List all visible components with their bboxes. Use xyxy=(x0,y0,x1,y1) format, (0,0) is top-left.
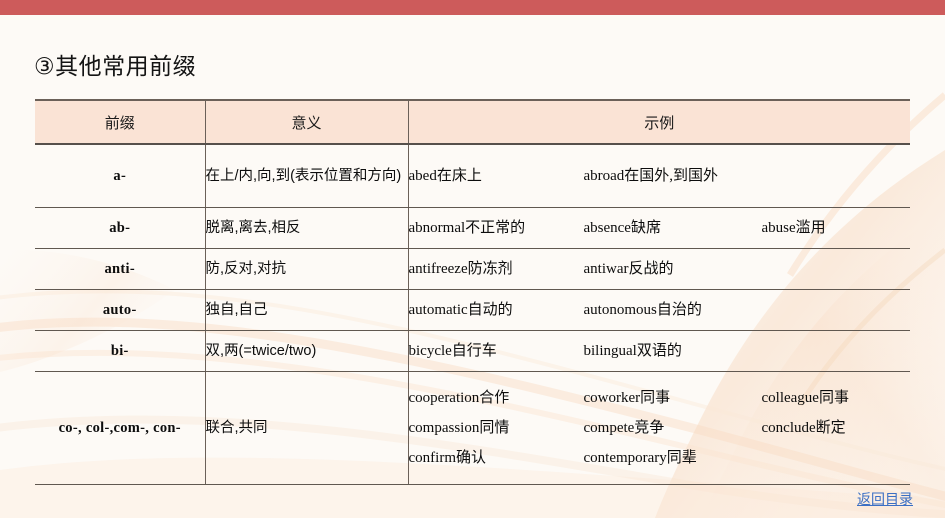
example-item: abnormal不正常的 xyxy=(409,213,584,243)
meaning-cell: 防,反对,对抗 xyxy=(205,249,408,290)
table-body: a- 在上/内,向,到(表示位置和方向) abed在床上 abroad在国外,到… xyxy=(35,144,910,485)
prefix-cell: a- xyxy=(35,144,205,208)
column-header-examples: 示例 xyxy=(408,100,910,144)
meaning-cell: 脱离,离去,相反 xyxy=(205,208,408,249)
example-item: abed在床上 xyxy=(409,161,584,191)
slide-content: ③其他常用前缀 前缀 意义 示例 a- 在上/内,向,到(表示位置和方向) ab… xyxy=(0,0,945,518)
examples-cell: automatic自动的 autonomous自治的 xyxy=(408,290,910,331)
table-row: anti- 防,反对,对抗 antifreeze防冻剂 antiwar反战的 xyxy=(35,249,910,290)
prefix-cell: anti- xyxy=(35,249,205,290)
example-item: antifreeze防冻剂 xyxy=(409,254,584,284)
return-to-contents-link[interactable]: 返回目录 xyxy=(857,489,913,509)
table-row: bi- 双,两(=twice/two) bicycle自行车 bilingual… xyxy=(35,331,910,372)
example-line: automatic自动的 autonomous自治的 xyxy=(409,295,911,325)
table-row: auto- 独自,自己 automatic自动的 autonomous自治的 xyxy=(35,290,910,331)
table-row: co-, col-,com-, con- 联合,共同 cooperation合作… xyxy=(35,372,910,485)
table-header: 前缀 意义 示例 xyxy=(35,100,910,144)
example-item: contemporary同辈 xyxy=(584,443,762,473)
examples-cell: cooperation合作 coworker同事 colleague同事 com… xyxy=(408,372,910,485)
example-item: compete竞争 xyxy=(584,413,762,443)
example-line: abed在床上 abroad在国外,到国外 xyxy=(409,161,911,191)
examples-cell: bicycle自行车 bilingual双语的 xyxy=(408,331,910,372)
prefix-cell: ab- xyxy=(35,208,205,249)
example-item: conclude断定 xyxy=(762,413,846,443)
example-line: confirm确认 contemporary同辈 xyxy=(409,443,911,473)
example-line: abnormal不正常的 absence缺席 abuse滥用 xyxy=(409,213,911,243)
examples-cell: abnormal不正常的 absence缺席 abuse滥用 xyxy=(408,208,910,249)
table-header-row: 前缀 意义 示例 xyxy=(35,100,910,144)
prefix-cell: co-, col-,com-, con- xyxy=(35,372,205,485)
prefix-cell: bi- xyxy=(35,331,205,372)
example-item: compassion同情 xyxy=(409,413,584,443)
example-item: automatic自动的 xyxy=(409,295,584,325)
example-item: absence缺席 xyxy=(584,213,762,243)
example-item: cooperation合作 xyxy=(409,383,584,413)
column-header-meaning: 意义 xyxy=(205,100,408,144)
meaning-cell: 双,两(=twice/two) xyxy=(205,331,408,372)
example-line: antifreeze防冻剂 antiwar反战的 xyxy=(409,254,911,284)
example-line: bicycle自行车 bilingual双语的 xyxy=(409,336,911,366)
table-row: a- 在上/内,向,到(表示位置和方向) abed在床上 abroad在国外,到… xyxy=(35,144,910,208)
examples-cell: abed在床上 abroad在国外,到国外 xyxy=(408,144,910,208)
prefix-table: 前缀 意义 示例 a- 在上/内,向,到(表示位置和方向) abed在床上 ab… xyxy=(35,99,910,485)
example-item: antiwar反战的 xyxy=(584,254,762,284)
example-item: abuse滥用 xyxy=(762,213,826,243)
example-item: confirm确认 xyxy=(409,443,584,473)
example-item: autonomous自治的 xyxy=(584,295,762,325)
example-line: compassion同情 compete竞争 conclude断定 xyxy=(409,413,911,443)
example-item: bicycle自行车 xyxy=(409,336,584,366)
meaning-cell: 在上/内,向,到(表示位置和方向) xyxy=(205,144,408,208)
column-header-prefix: 前缀 xyxy=(35,100,205,144)
example-line: cooperation合作 coworker同事 colleague同事 xyxy=(409,383,911,413)
example-item: coworker同事 xyxy=(584,383,762,413)
example-item: bilingual双语的 xyxy=(584,336,762,366)
example-item: colleague同事 xyxy=(762,383,849,413)
meaning-cell: 联合,共同 xyxy=(205,372,408,485)
meaning-cell: 独自,自己 xyxy=(205,290,408,331)
examples-cell: antifreeze防冻剂 antiwar反战的 xyxy=(408,249,910,290)
prefix-cell: auto- xyxy=(35,290,205,331)
page-title: ③其他常用前缀 xyxy=(34,51,196,81)
example-item: abroad在国外,到国外 xyxy=(584,161,762,191)
table-row: ab- 脱离,离去,相反 abnormal不正常的 absence缺席 abus… xyxy=(35,208,910,249)
